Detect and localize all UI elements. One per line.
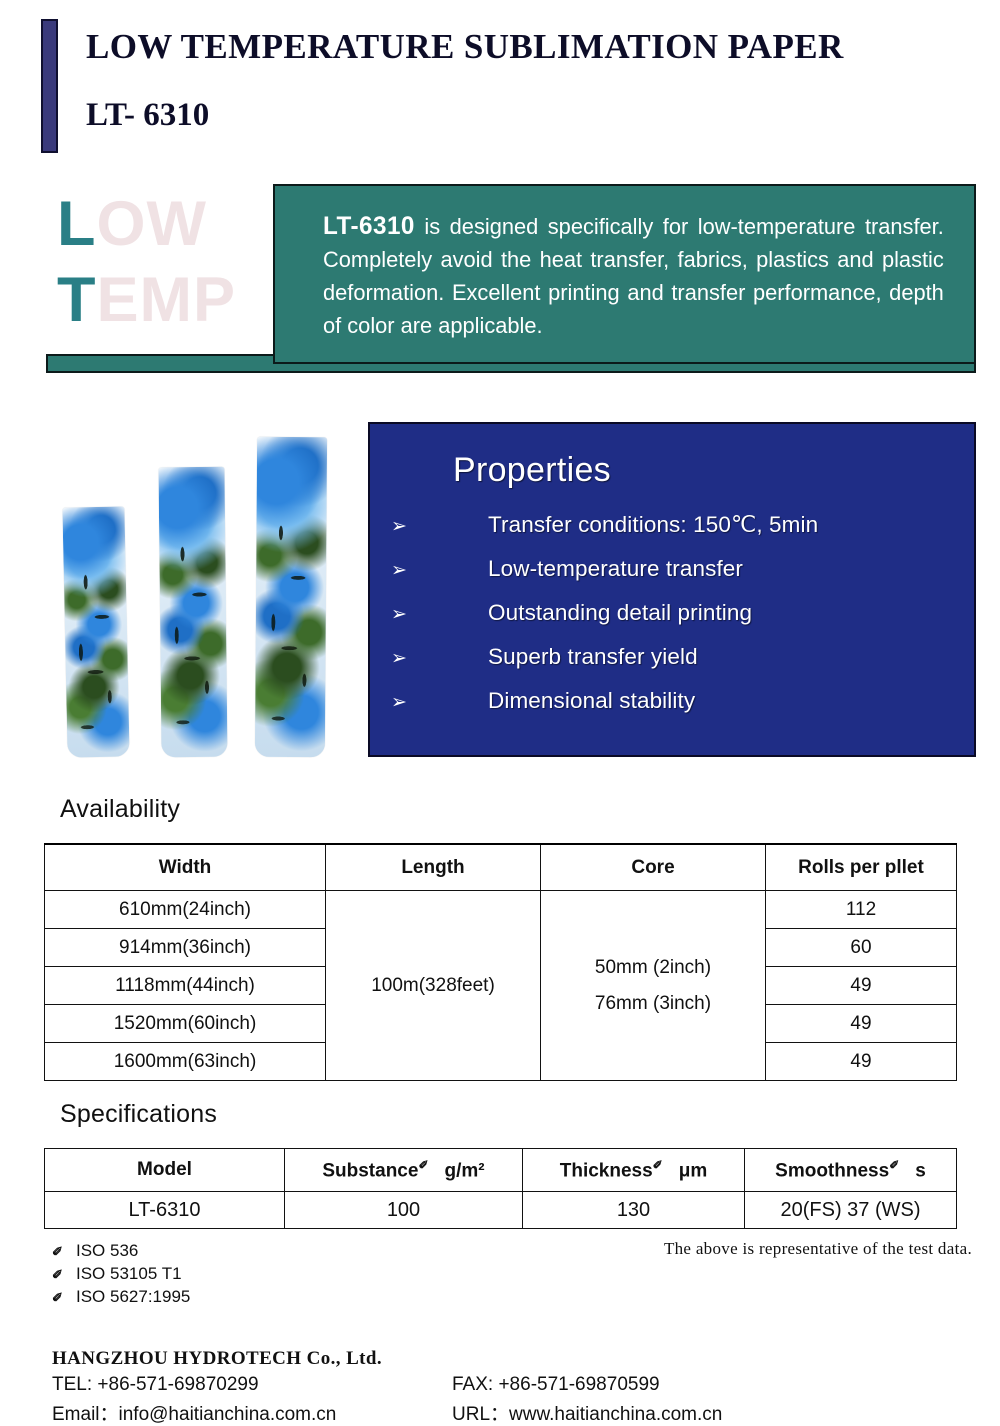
product-image-group [60,432,345,757]
cell-width: 610mm(24inch) [45,891,326,929]
footnote-mark-icon: ✐ [418,1158,428,1172]
column-header-thickness: Thickness✐μm [523,1149,745,1192]
cell-width: 914mm(36inch) [45,929,326,967]
product-strip [62,506,129,757]
contact-tel: TEL: +86-571-69870299 [52,1374,452,1396]
property-label: Low-temperature transfer [488,556,743,582]
watermark-l: L [57,189,96,259]
property-label: Outstanding detail printing [488,600,752,626]
properties-panel: Properties ➢ Transfer conditions: 150℃, … [368,422,976,757]
specifications-heading: Specifications [60,1100,217,1129]
table-header-row: Width Length Core Rolls per pllet [45,844,957,891]
footnote-label: ISO 53105 T1 [76,1264,182,1284]
column-header-core: Core [541,844,766,891]
cell-model: LT-6310 [45,1192,285,1229]
specifications-table: Model Substance✐g/m² Thickness✐μm Smooth… [44,1148,957,1229]
property-item: ➢ Dimensional stability [370,688,974,732]
watermark-line-low: LOW [57,186,272,262]
footnote-list: ✐ ISO 536 ✐ ISO 53105 T1 ✐ ISO 5627:1995 [52,1241,472,1310]
smoothness-unit: s [915,1160,926,1181]
column-header-model: Model [45,1149,285,1192]
product-strip [158,467,227,758]
arrow-bullet-icon: ➢ [388,649,410,668]
footnote-mark-icon: ✐ [52,1244,76,1260]
footnote-label: ISO 536 [76,1241,138,1261]
column-header-width: Width [45,844,326,891]
cell-rolls: 112 [766,891,957,929]
availability-heading: Availability [60,795,180,824]
watermark-emp: EMP [96,265,236,335]
vine-overlay [255,437,327,757]
company-name: HANGZHOU HYDROTECH Co., Ltd. [52,1348,952,1370]
contact-url[interactable]: URL：www.haitianchina.com.cn [452,1399,952,1426]
column-header-smoothness: Smoothness✐s [745,1149,957,1192]
description-model: LT-6310 [323,212,415,240]
cell-thickness: 130 [523,1192,745,1229]
thickness-label: Thickness [560,1160,653,1181]
footnote-item: ✐ ISO 536 [52,1241,472,1264]
footnote-mark-icon: ✐ [889,1158,899,1172]
property-label: Superb transfer yield [488,644,698,670]
cell-rolls: 60 [766,929,957,967]
description-panel: LT-6310 is designed specifically for low… [273,184,976,364]
contact-email[interactable]: Email：info@haitianchina.com.cn [52,1399,452,1426]
contact-row-phone: TEL: +86-571-69870299 FAX: +86-571-69870… [52,1374,952,1399]
watermark-ow: OW [96,189,206,259]
cell-substance: 100 [285,1192,523,1229]
contact-row-web: Email：info@haitianchina.com.cn URL：www.h… [52,1399,952,1424]
contact-block: HANGZHOU HYDROTECH Co., Ltd. TEL: +86-57… [52,1348,952,1424]
cell-core: 50mm (2inch) 76mm (3inch) [541,891,766,1081]
arrow-bullet-icon: ➢ [388,561,410,580]
cell-smoothness: 20(FS) 37 (WS) [745,1192,957,1229]
table-header-row: Model Substance✐g/m² Thickness✐μm Smooth… [45,1149,957,1192]
thickness-unit: μm [679,1160,708,1181]
description-text: LT-6310 is designed specifically for low… [323,210,944,342]
core-line-1: 50mm (2inch) [541,957,765,979]
contact-fax: FAX: +86-571-69870599 [452,1374,952,1396]
watermark-line-temp: TEMP [57,262,272,338]
property-label: Transfer conditions: 150℃, 5min [488,512,818,538]
substance-unit: g/m² [445,1160,485,1181]
smoothness-label: Smoothness [775,1160,889,1181]
footnote-mark-icon: ✐ [52,1267,76,1283]
cell-width: 1520mm(60inch) [45,1005,326,1043]
product-strip [255,437,327,757]
property-item: ➢ Superb transfer yield [370,644,974,688]
property-item: ➢ Outstanding detail printing [370,600,974,644]
watermark-t: T [57,265,96,335]
arrow-bullet-icon: ➢ [388,517,410,536]
core-line-2: 76mm (3inch) [541,993,765,1015]
cell-rolls: 49 [766,967,957,1005]
footnote-label: ISO 5627:1995 [76,1287,190,1307]
table-row: LT-6310 100 130 20(FS) 37 (WS) [45,1192,957,1229]
cell-length: 100m(328feet) [326,891,541,1081]
footnote-mark-icon: ✐ [52,1290,76,1306]
description-body: is designed specifically for low-tempera… [323,214,944,338]
cell-width: 1600mm(63inch) [45,1043,326,1081]
cell-rolls: 49 [766,1005,957,1043]
property-item: ➢ Low-temperature transfer [370,556,974,600]
test-data-note: The above is representative of the test … [664,1239,972,1259]
substance-label: Substance [322,1160,418,1181]
column-header-rolls: Rolls per pllet [766,844,957,891]
arrow-bullet-icon: ➢ [388,693,410,712]
availability-table: Width Length Core Rolls per pllet 610mm(… [44,843,957,1081]
footnote-item: ✐ ISO 53105 T1 [52,1264,472,1287]
cell-width: 1118mm(44inch) [45,967,326,1005]
properties-heading: Properties [453,451,611,490]
table-row: 610mm(24inch) 100m(328feet) 50mm (2inch)… [45,891,957,929]
header-accent-bar [41,19,58,153]
vine-overlay [62,506,129,757]
cell-rolls: 49 [766,1043,957,1081]
property-label: Dimensional stability [488,688,695,714]
properties-list: ➢ Transfer conditions: 150℃, 5min ➢ Low-… [370,512,974,732]
footnote-item: ✐ ISO 5627:1995 [52,1287,472,1310]
model-title: LT- 6310 [86,97,209,134]
property-item: ➢ Transfer conditions: 150℃, 5min [370,512,974,556]
column-header-substance: Substance✐g/m² [285,1149,523,1192]
footnote-mark-icon: ✐ [653,1158,663,1172]
column-header-length: Length [326,844,541,891]
page-title: LOW TEMPERATURE SUBLIMATION PAPER [86,27,844,67]
arrow-bullet-icon: ➢ [388,605,410,624]
vine-overlay [158,467,227,758]
low-temp-watermark: LOW TEMP [57,186,272,346]
